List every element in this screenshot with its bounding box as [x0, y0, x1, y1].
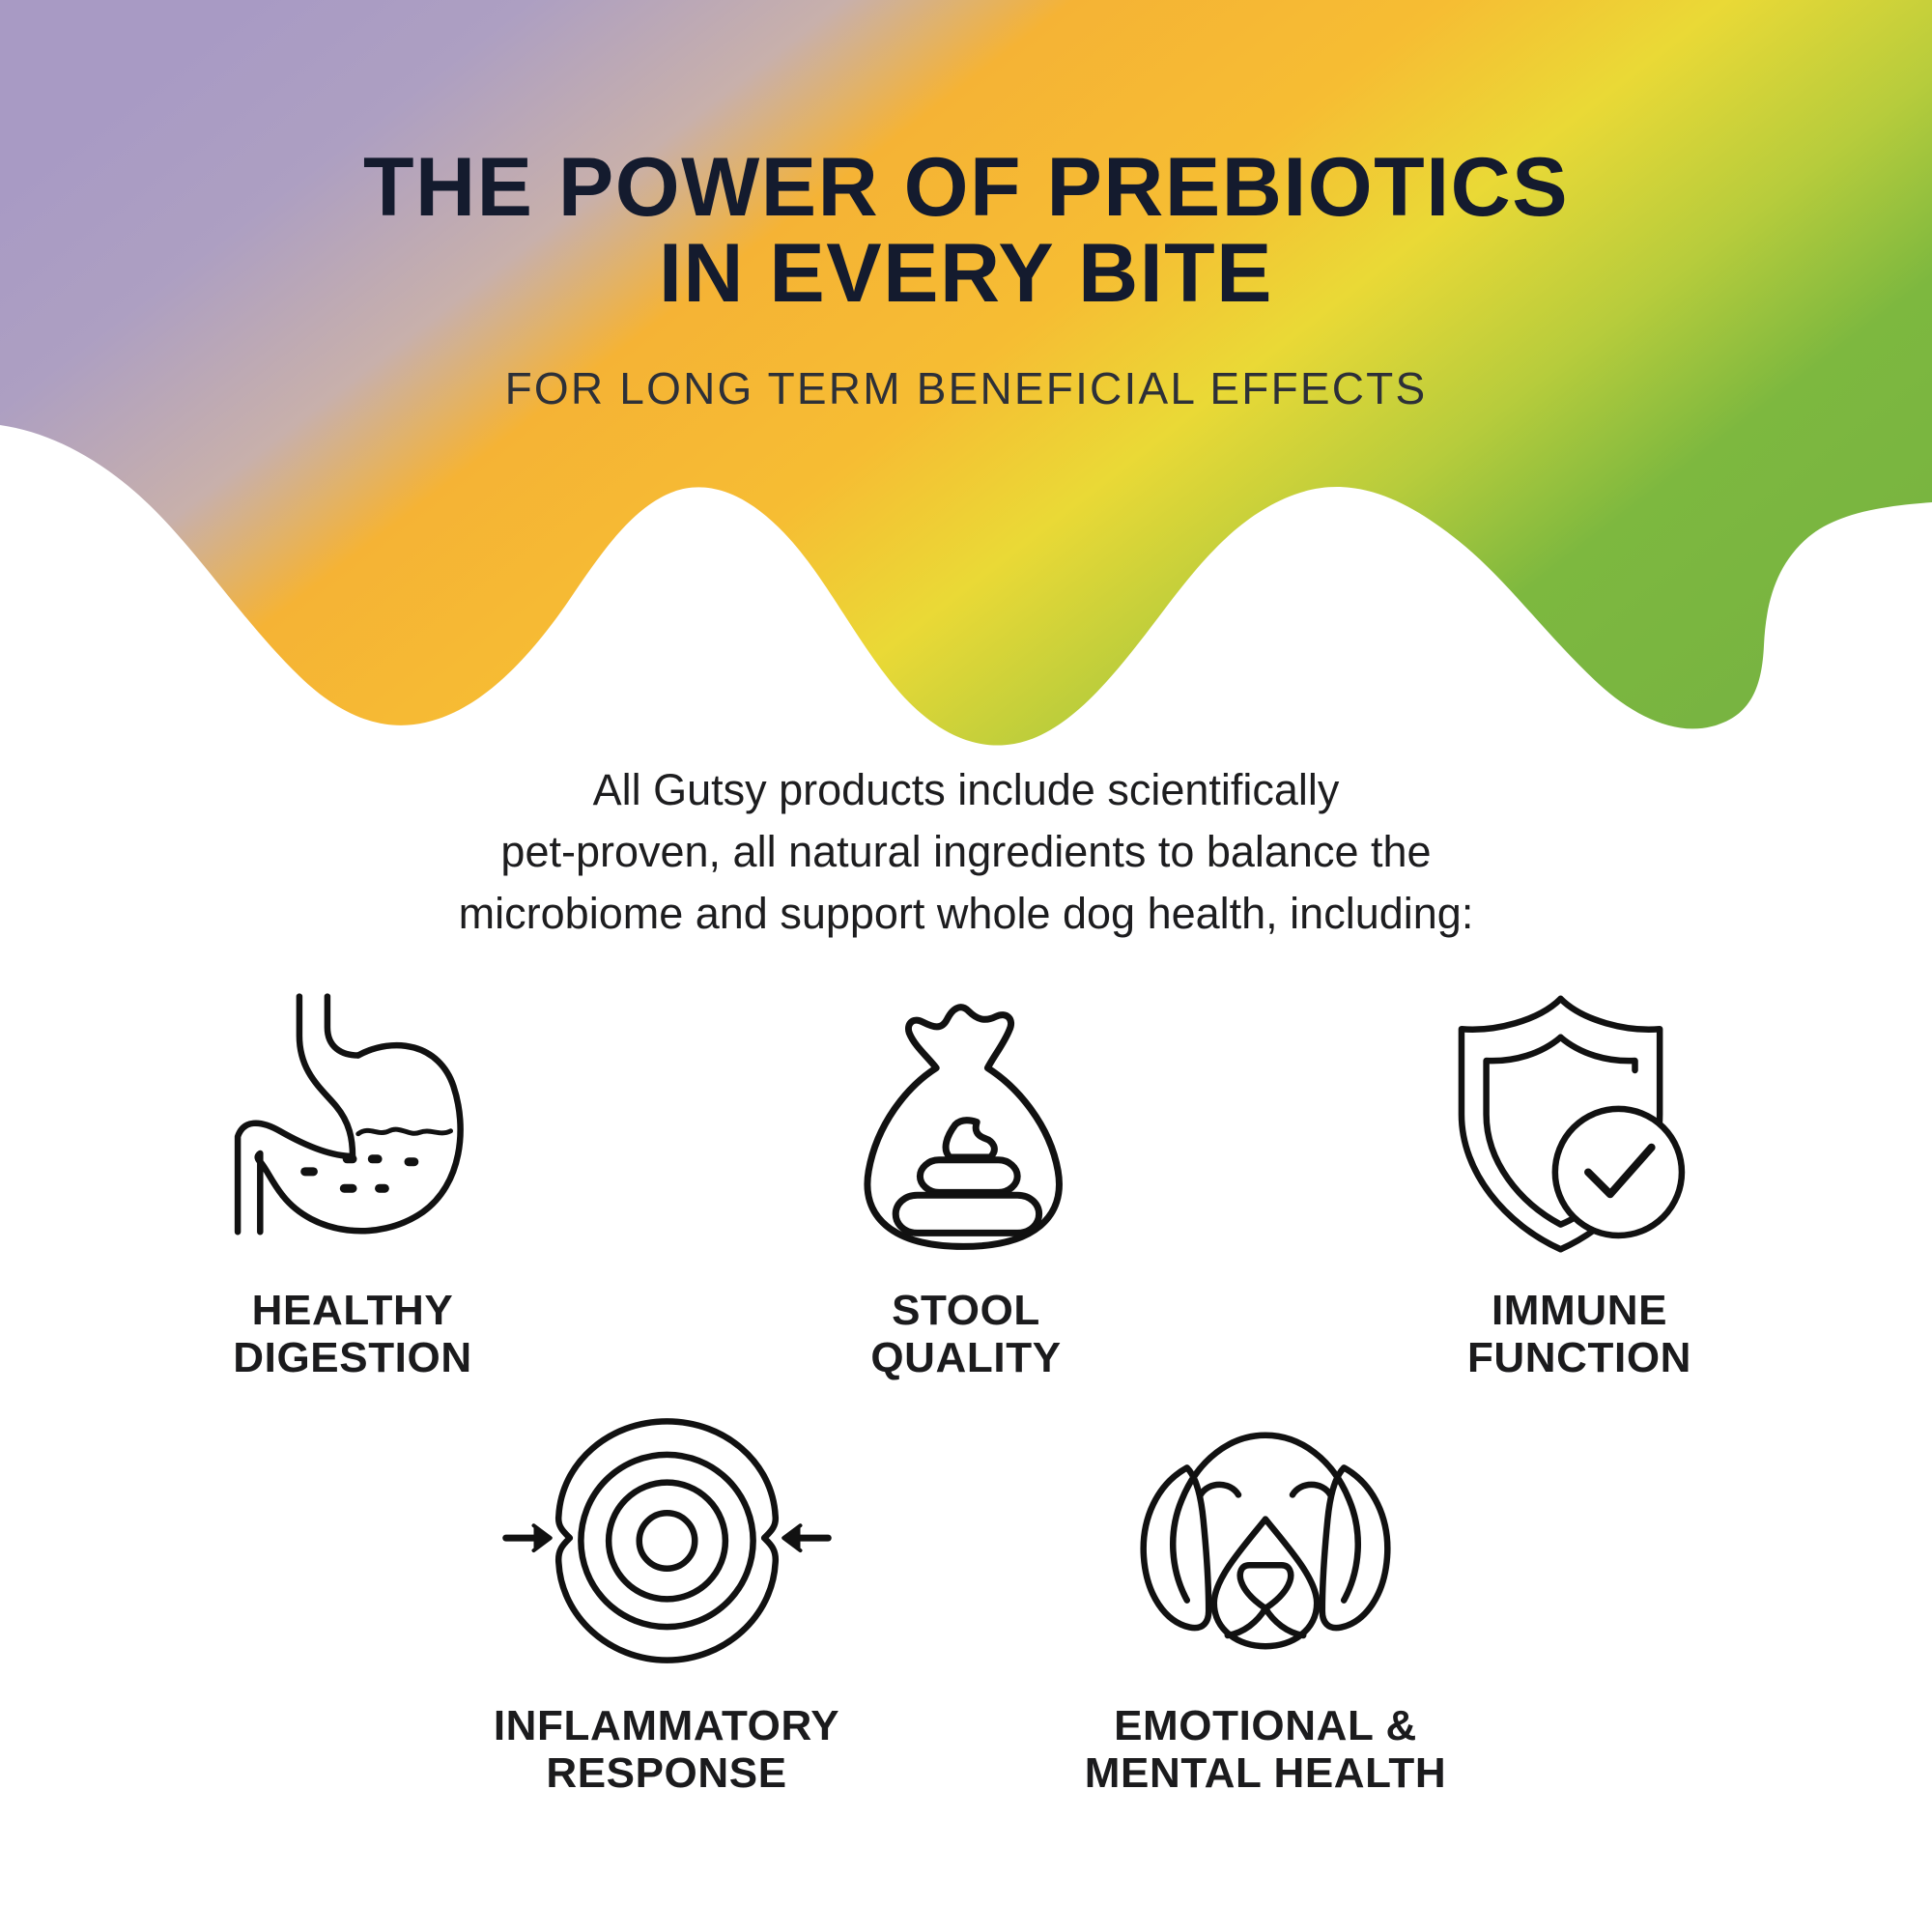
benefit-icon-wrap — [386, 1391, 947, 1681]
benefit-inflammatory-response: INFLAMMATORY RESPONSE — [386, 1391, 947, 1798]
infographic-page: THE POWER OF PREBIOTICS IN EVERY BITE FO… — [0, 0, 1932, 1932]
benefit-healthy-digestion: HEALTHY DIGESTION — [106, 976, 599, 1382]
intro-line-3: microbiome and support whole dog health,… — [372, 883, 1560, 945]
hero-gradient-shape — [0, 0, 1932, 773]
dog-face-icon — [1130, 1401, 1401, 1681]
stomach-icon — [213, 985, 493, 1265]
inflammation-icon — [500, 1401, 834, 1681]
benefit-immune-function: IMMUNE FUNCTION — [1333, 976, 1826, 1382]
hero-gradient-banner: THE POWER OF PREBIOTICS IN EVERY BITE FO… — [0, 0, 1932, 773]
poop-bag-icon — [855, 995, 1077, 1265]
benefit-stool-quality: STOOL QUALITY — [734, 976, 1198, 1382]
benefit-label: EMOTIONAL & MENTAL HEALTH — [995, 1702, 1536, 1798]
intro-line-2: pet-proven, all natural ingredients to b… — [372, 821, 1560, 883]
benefit-icon-wrap — [995, 1391, 1536, 1681]
benefit-label: INFLAMMATORY RESPONSE — [386, 1702, 947, 1798]
intro-line-1: All Gutsy products include scientificall… — [372, 759, 1560, 821]
benefit-icon-wrap — [734, 976, 1198, 1265]
benefit-icon-wrap — [106, 976, 599, 1265]
benefit-label: IMMUNE FUNCTION — [1333, 1287, 1826, 1382]
benefit-label: HEALTHY DIGESTION — [106, 1287, 599, 1382]
intro-paragraph: All Gutsy products include scientificall… — [372, 759, 1560, 945]
benefit-label: STOOL QUALITY — [734, 1287, 1198, 1382]
shield-check-icon — [1442, 985, 1718, 1265]
benefit-icon-wrap — [1333, 976, 1826, 1265]
benefit-emotional-mental-health: EMOTIONAL & MENTAL HEALTH — [995, 1391, 1536, 1798]
